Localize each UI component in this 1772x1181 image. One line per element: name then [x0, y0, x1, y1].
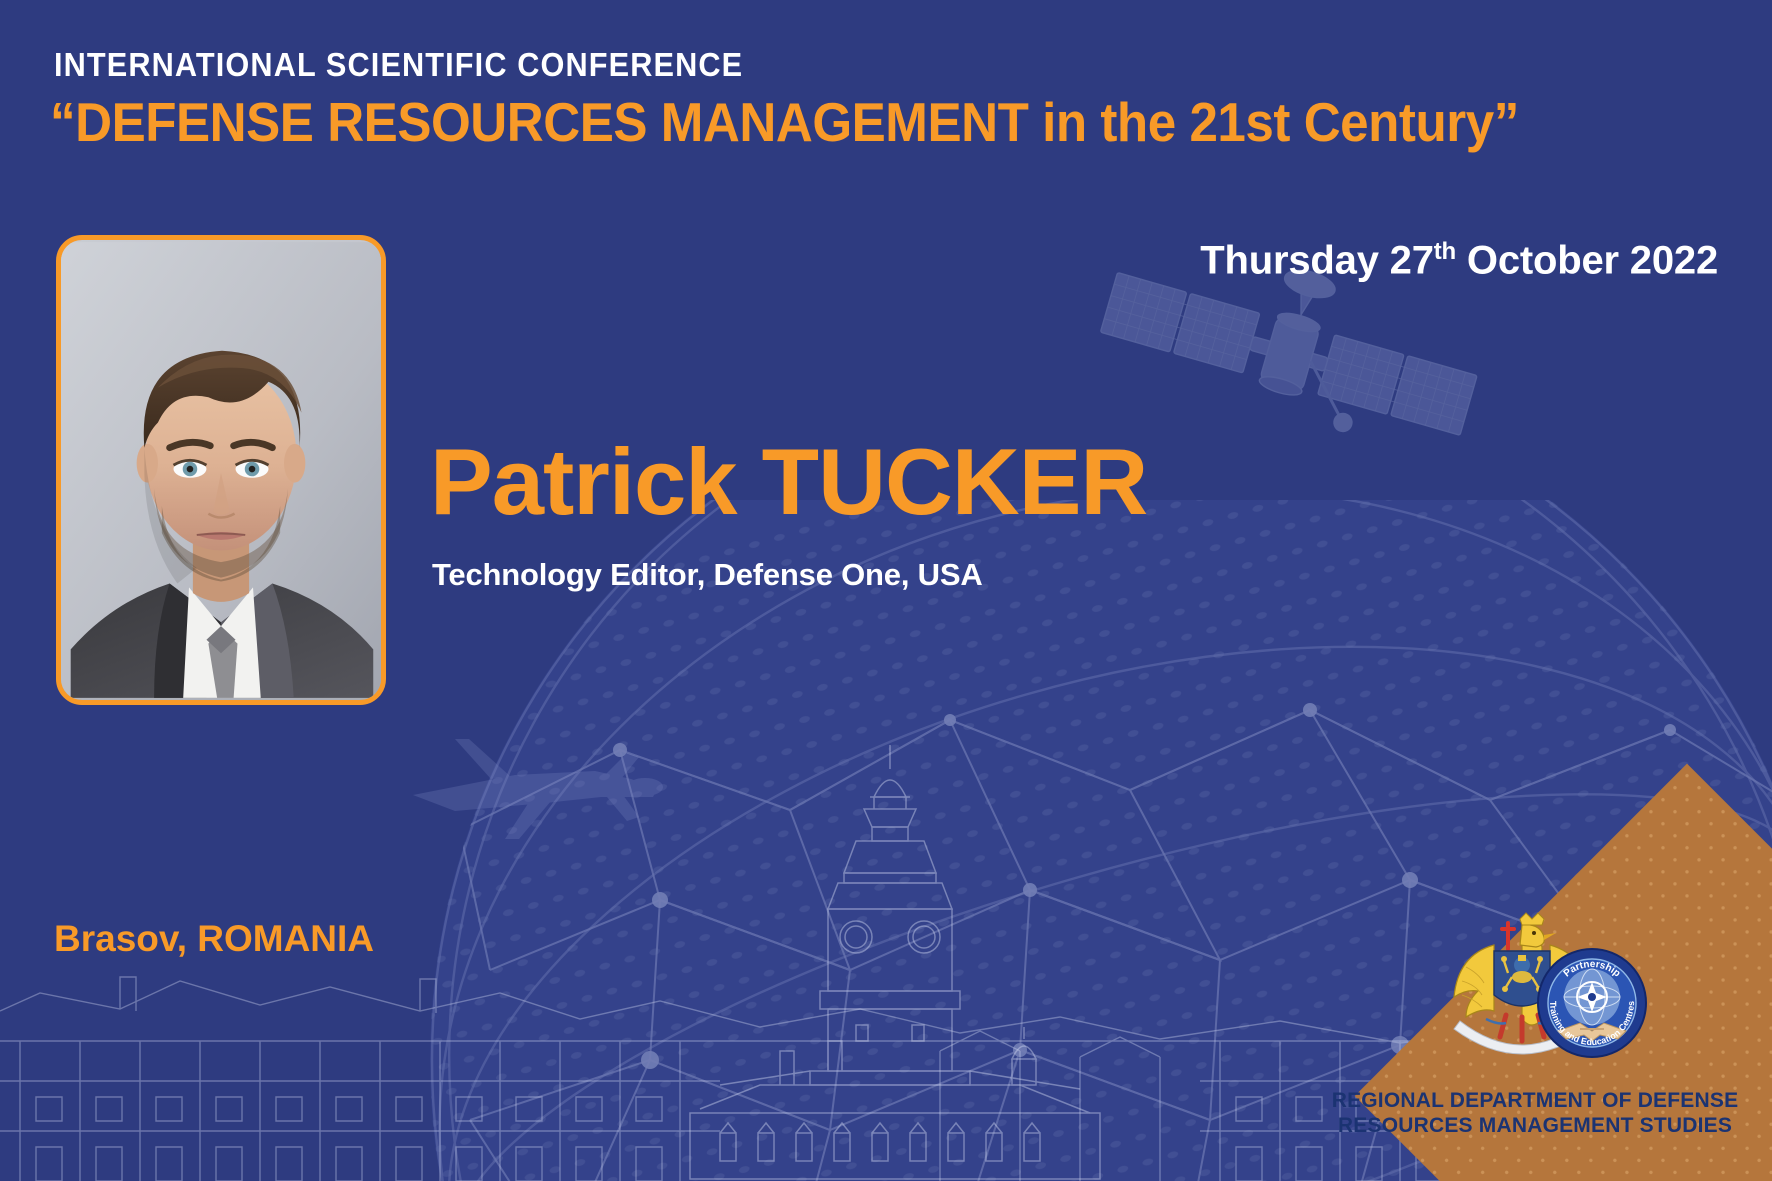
drone-icon: [395, 735, 685, 845]
event-date-ordinal: th: [1434, 238, 1456, 265]
event-date-prefix: Thursday 27: [1200, 238, 1433, 282]
satellite-icon: [1085, 255, 1515, 505]
conference-kicker: INTERNATIONAL SCIENTIFIC CONFERENCE: [54, 46, 743, 84]
nato-partnership-training-education-centres-seal: Partnership Training and Education Centr…: [1538, 949, 1646, 1057]
event-date: Thursday 27th October 2022: [1200, 238, 1718, 283]
event-date-suffix: October 2022: [1456, 238, 1718, 282]
organization-caption-line2: RESOURCES MANAGEMENT STUDIES: [1320, 1113, 1750, 1139]
organization-emblems: Partnership Training and Education Centr…: [1432, 911, 1662, 1061]
conference-headline: “DEFENSE RESOURCES MANAGEMENT in the 21s…: [50, 90, 1519, 154]
conference-poster: INTERNATIONAL SCIENTIFIC CONFERENCE “DEF…: [0, 0, 1772, 1181]
council-house-tower-lineart: [660, 741, 1120, 1181]
speaker-name: Patrick TUCKER: [430, 432, 1147, 532]
event-location: Brasov, ROMANIA: [54, 918, 374, 960]
organization-caption: REGIONAL DEPARTMENT OF DEFENSE RESOURCES…: [1320, 1088, 1750, 1139]
speaker-role: Technology Editor, Defense One, USA: [432, 557, 983, 593]
organization-caption-line1: REGIONAL DEPARTMENT OF DEFENSE: [1320, 1088, 1750, 1114]
speaker-portrait: [56, 235, 386, 705]
